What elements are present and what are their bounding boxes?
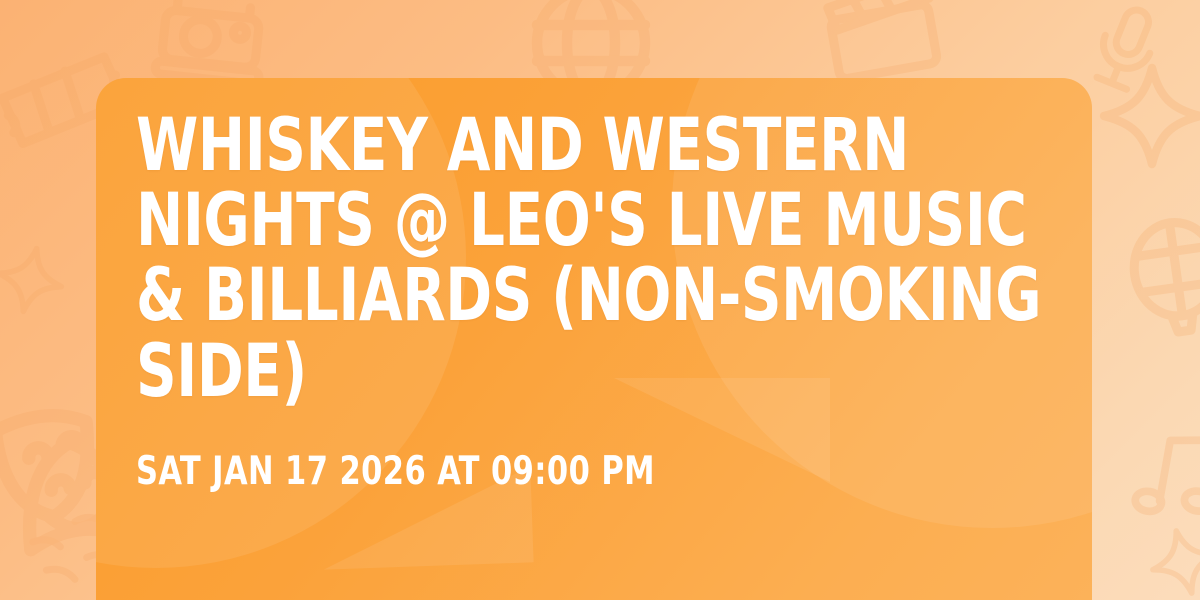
music-note-icon [1111, 413, 1200, 540]
balloon-icon [1104, 204, 1200, 351]
event-card: Whiskey and Western Nights @ Leo's Live … [96, 78, 1092, 600]
event-banner-canvas: Whiskey and Western Nights @ Leo's Live … [0, 0, 1200, 600]
event-card-content: Whiskey and Western Nights @ Leo's Live … [96, 78, 1092, 494]
event-date-time: Sat Jan 17 2026 at 09:00 PM [136, 451, 1052, 494]
sparkle-icon [1092, 56, 1200, 176]
sparkle-icon [0, 233, 77, 328]
sparkle-icon [1136, 514, 1200, 600]
event-title: Whiskey and Western Nights @ Leo's Live … [136, 108, 1050, 409]
